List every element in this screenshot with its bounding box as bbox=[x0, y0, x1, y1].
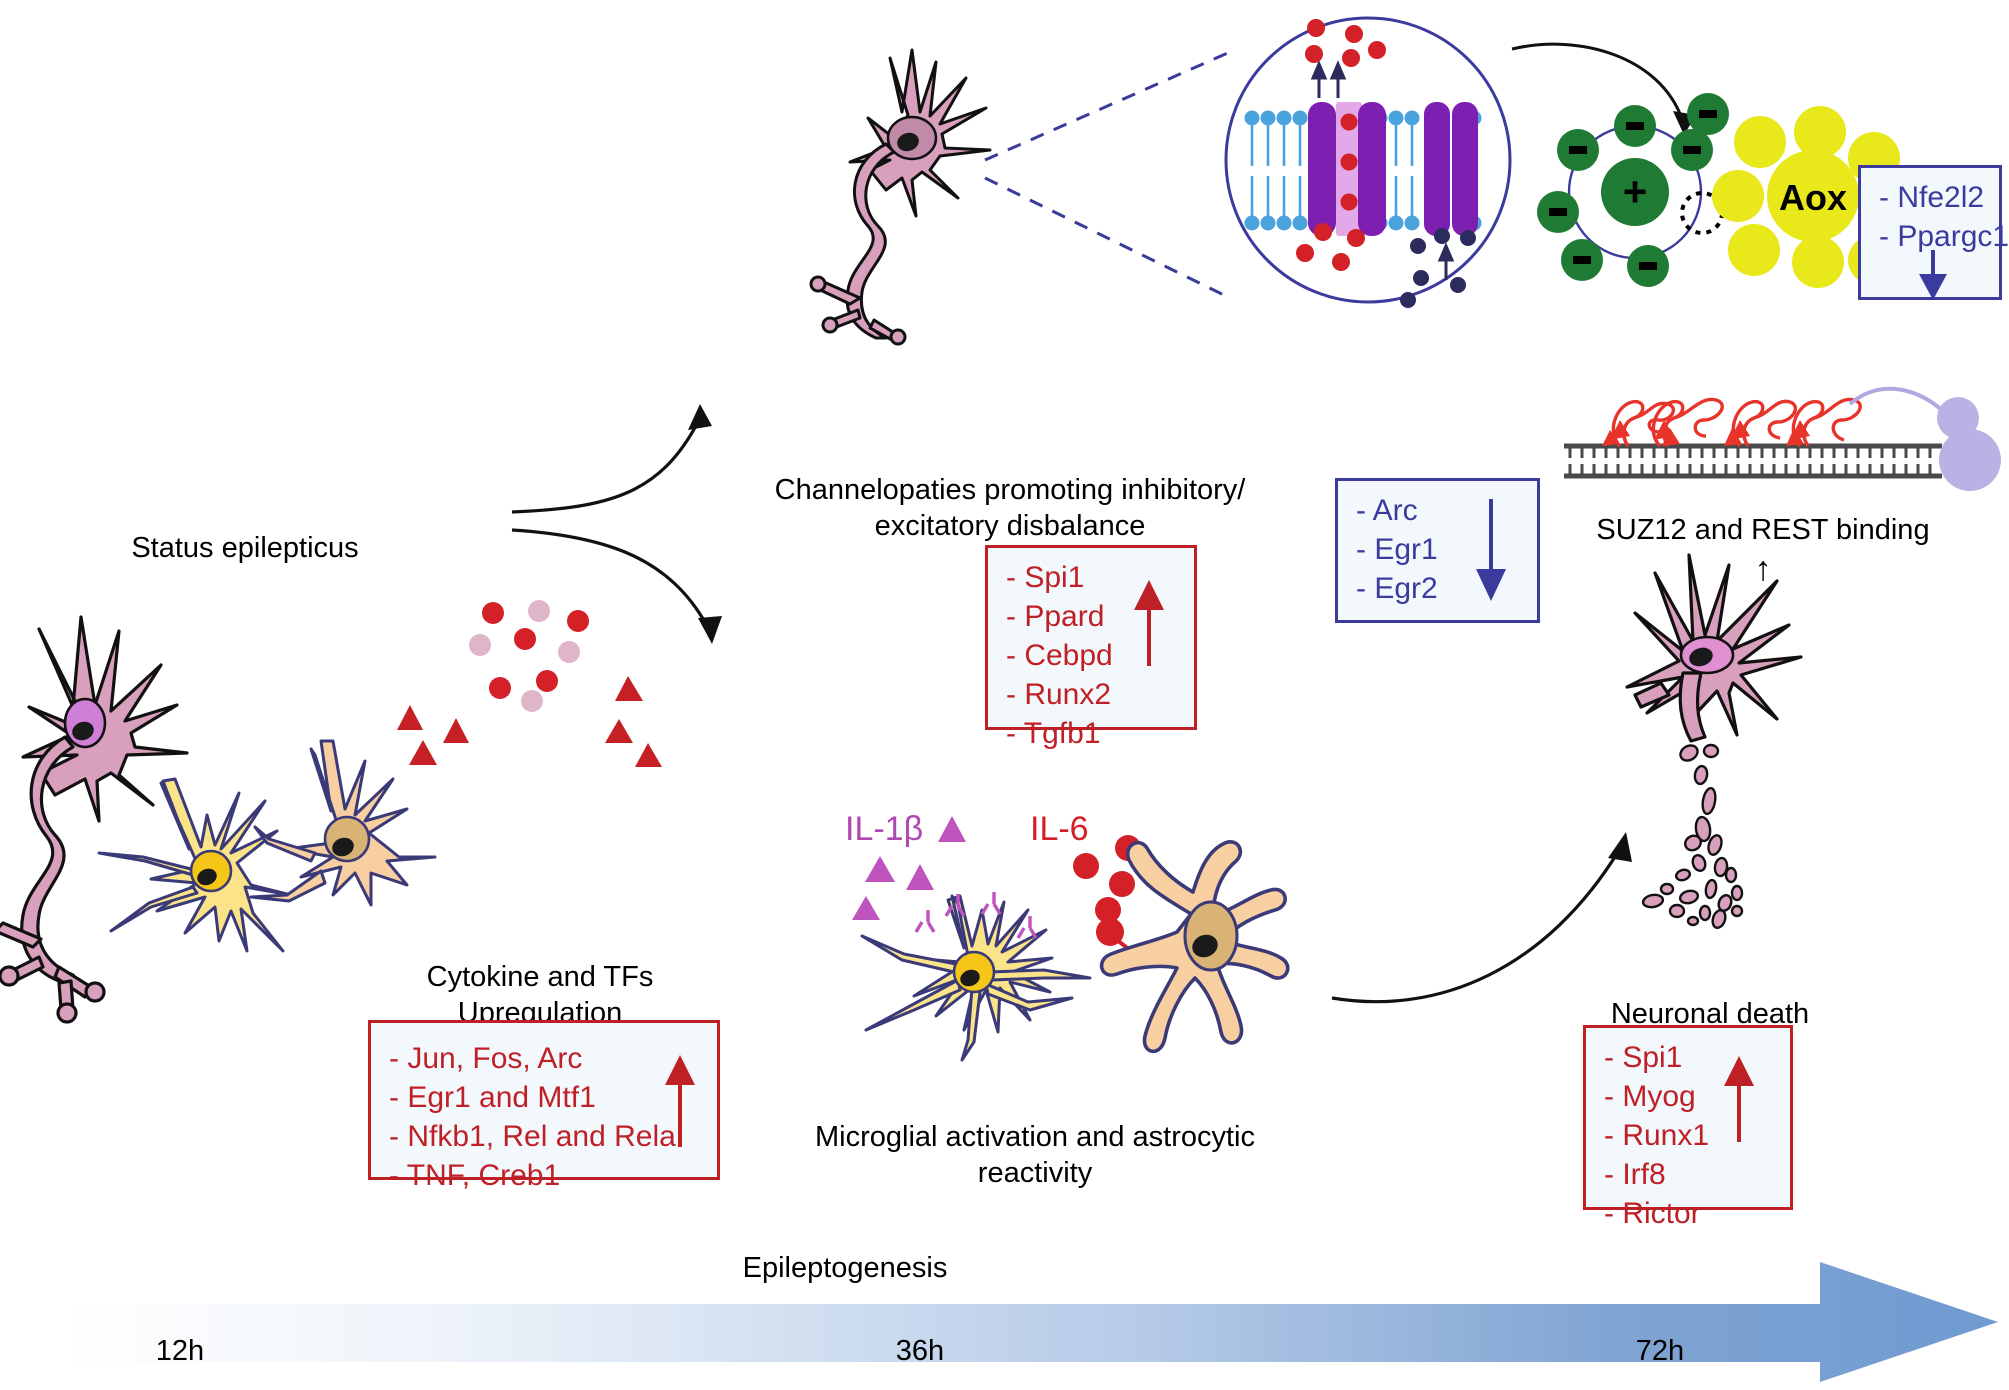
protein-complex bbox=[1937, 397, 2001, 491]
suz12-rest-dna-illustration bbox=[1550, 370, 2000, 490]
branching-arrows bbox=[500, 400, 860, 690]
cytokine-tf-gene-list: - Jun, Fos, Arc - Egr1 and Mtf1 - Nfkb1,… bbox=[389, 1039, 701, 1195]
epileptogenesis-timeline bbox=[60, 1258, 2000, 1385]
gene-item: - Irf8 bbox=[1604, 1155, 1774, 1194]
gene-item: - Nfkb1, Rel and Rela bbox=[389, 1117, 701, 1156]
up-arrow-icon bbox=[1718, 1054, 1760, 1149]
aox-label: Aox bbox=[1779, 177, 1847, 218]
cytokine-tf-gene-box: - Jun, Fos, Arc - Egr1 and Mtf1 - Nfkb1,… bbox=[368, 1020, 720, 1180]
reactive-astrocyte bbox=[1095, 840, 1315, 1070]
ieg-downregulation-box: - Arc - Egr1 - Egr2 bbox=[1335, 478, 1540, 623]
cytokine-tfs-label: Cytokine and TFs Upregulation bbox=[370, 925, 710, 1031]
neuronal-death-gene-box: - Spi1 - Myog - Runx1 - Irf8 - Rictor bbox=[1583, 1025, 1793, 1210]
down-arrow-icon bbox=[1470, 499, 1512, 608]
gene-item: - TNF, Creb1 bbox=[389, 1156, 701, 1195]
gene-item: - Tgfb1 bbox=[1006, 714, 1178, 753]
up-arrow-icon bbox=[659, 1053, 701, 1154]
gene-item: - Nfe2l2 bbox=[1879, 178, 1983, 217]
radical-plus-label: + bbox=[1623, 168, 1648, 215]
gene-item: - Jun, Fos, Arc bbox=[389, 1039, 701, 1078]
gene-item: - Egr1 and Mtf1 bbox=[389, 1078, 701, 1117]
channelopathy-gene-box: - Spi1 - Ppard - Cebpd - Runx2 - Tgfb1 bbox=[985, 545, 1197, 730]
gene-item: - Runx2 bbox=[1006, 675, 1178, 714]
timeline-tick-72h: 72h bbox=[1620, 1335, 1700, 1368]
neuronal-death-label: Neuronal death bbox=[1540, 962, 1880, 1033]
membrane-channel-inset bbox=[1168, 10, 1568, 310]
degenerating-neuron bbox=[1565, 545, 1845, 965]
suz12-rest-text: SUZ12 and REST binding bbox=[1596, 514, 1929, 546]
microglial-label: Microglial activation and astrocytic rea… bbox=[790, 1085, 1280, 1191]
down-arrow-icon bbox=[1913, 250, 1953, 307]
timeline-tick-12h: 12h bbox=[140, 1335, 220, 1368]
gene-item: - Rictor bbox=[1604, 1194, 1774, 1233]
antioxidant-downregulation-box: - Nfe2l2 - Ppargc1a bbox=[1858, 165, 2002, 300]
status-epilepticus-label: Status epilepticus bbox=[80, 496, 410, 567]
up-arrow-icon bbox=[1128, 578, 1170, 673]
axon-debris bbox=[1642, 742, 1742, 929]
chromatin-arrowheads bbox=[1602, 420, 1810, 446]
activated-microglia bbox=[840, 880, 1130, 1060]
timeline-tick-36h: 36h bbox=[880, 1335, 960, 1368]
antioxidant-gene-list: - Nfe2l2 - Ppargc1a bbox=[1879, 178, 1983, 256]
timeline-title: Epileptogenesis bbox=[700, 1252, 990, 1285]
